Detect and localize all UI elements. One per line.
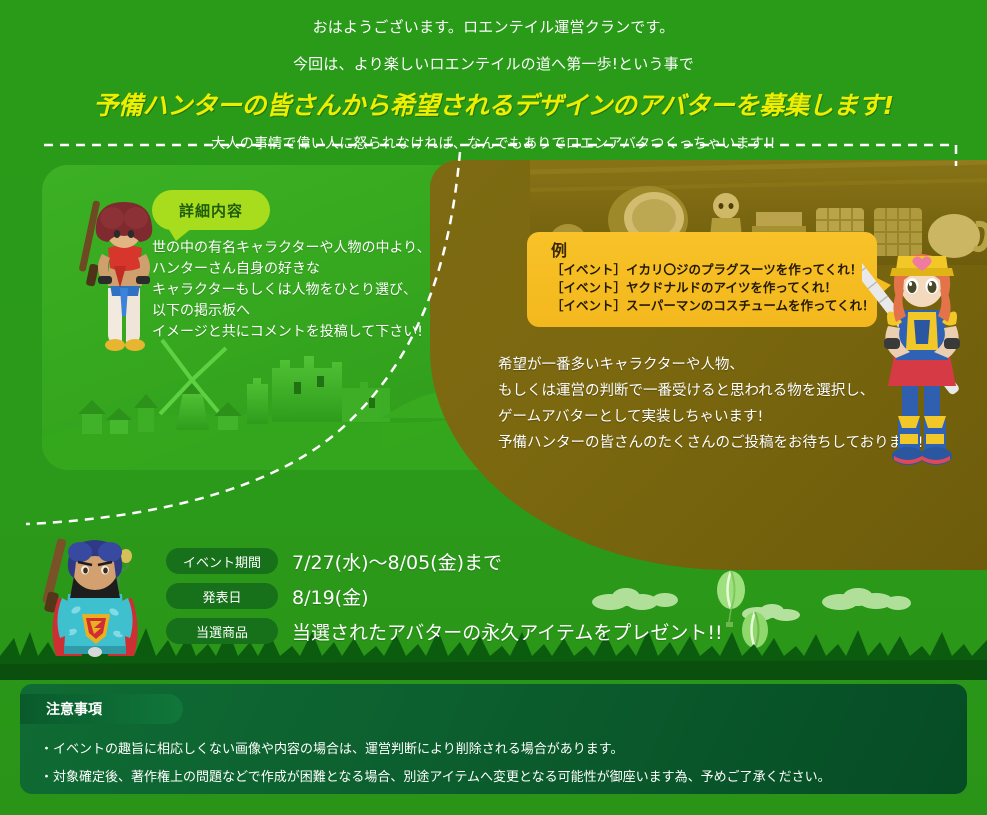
selection-text: 希望が一番多いキャラクターや人物、 もしくは運営の判断で一番受けると思われる物を… <box>498 352 923 456</box>
header-subline: 今回は、より楽しいロエンテイルの道へ第一歩!という事で <box>0 55 987 74</box>
details-line-5: イメージと共にコメントを投稿して下さい! <box>152 322 431 343</box>
example-line-3: ［イベント］スーパーマンのコスチュームを作ってくれ！ <box>551 297 877 315</box>
notice-item-2: ・対象確定後、著作権上の問題などで作成が困難となる場合、別途アイテムへ変更となる… <box>40 764 950 792</box>
selection-line-4: 予備ハンターの皆さんのたくさんのご投稿をお待ちしております! <box>498 430 923 456</box>
info-label-period: イベント期間 <box>166 548 278 574</box>
page-title: 予備ハンターの皆さんから希望されるデザインのアバターを募集します! <box>0 86 987 122</box>
character-magical-girl <box>862 228 982 473</box>
details-line-3: キャラクターもしくは人物をひとり選び、 <box>152 280 431 301</box>
notice-list: ・イベントの趣旨に相応しくない画像や内容の場合は、運営判断により削除される場合が… <box>40 736 950 792</box>
selection-line-3: ゲームアバターとして実装しちゃいます! <box>498 404 923 430</box>
selection-line-2: もしくは運営の判断で一番受けると思われる物を選択し、 <box>498 378 923 404</box>
info-value-announcement: 8/19(金) <box>292 583 369 610</box>
character-hunter-red <box>74 192 174 357</box>
info-row-announcement: 発表日 8/19(金) <box>166 583 723 609</box>
event-page: おはようございます。ロエンテイル運営クランです。 今回は、より楽しいロエンテイル… <box>0 0 987 815</box>
character-ninja-blue <box>34 532 159 667</box>
header-tagline: 大人の事情で偉い人に怒られなければ、なんでもありでロエンアバタつくっちゃいます!… <box>0 136 987 154</box>
info-value-period: 7/27(水)〜8/05(金)まで <box>292 548 502 575</box>
notice-title: 注意事項 <box>20 694 183 724</box>
details-text: 世の中の有名キャラクターや人物の中より、 ハンターさん自身の好きな キャラクター… <box>152 238 431 343</box>
example-box: 例 ［イベント］イカリ〇ジのプラグスーツを作ってくれ！ ［イベント］ヤクドナルド… <box>527 232 877 327</box>
info-value-prize: 当選されたアバターの永久アイテムをプレゼント!! <box>292 618 723 645</box>
notice-box: 注意事項 ・イベントの趣旨に相応しくない画像や内容の場合は、運営判断により削除さ… <box>20 684 967 794</box>
example-title: 例 <box>551 241 877 261</box>
notice-item-1: ・イベントの趣旨に相応しくない画像や内容の場合は、運営判断により削除される場合が… <box>40 736 950 764</box>
header-greeting: おはようございます。ロエンテイル運営クランです。 <box>0 18 987 37</box>
selection-line-1: 希望が一番多いキャラクターや人物、 <box>498 352 923 378</box>
page-header: おはようございます。ロエンテイル運営クランです。 今回は、より楽しいロエンテイル… <box>0 0 987 140</box>
info-label-prize: 当選商品 <box>166 618 278 644</box>
info-row-prize: 当選商品 当選されたアバターの永久アイテムをプレゼント!! <box>166 618 723 644</box>
info-row-period: イベント期間 7/27(水)〜8/05(金)まで <box>166 548 723 574</box>
example-line-1: ［イベント］イカリ〇ジのプラグスーツを作ってくれ！ <box>551 261 877 279</box>
event-info-block: イベント期間 7/27(水)〜8/05(金)まで 発表日 8/19(金) 当選商… <box>166 548 723 653</box>
info-label-announcement: 発表日 <box>166 583 278 609</box>
details-line-4: 以下の掲示板へ <box>152 301 431 322</box>
example-line-2: ［イベント］ヤクドナルドのアイツを作ってくれ！ <box>551 279 877 297</box>
details-line-1: 世の中の有名キャラクターや人物の中より、 <box>152 238 431 259</box>
details-bubble-label: 詳細内容 <box>179 200 243 221</box>
details-line-2: ハンターさん自身の好きな <box>152 259 431 280</box>
